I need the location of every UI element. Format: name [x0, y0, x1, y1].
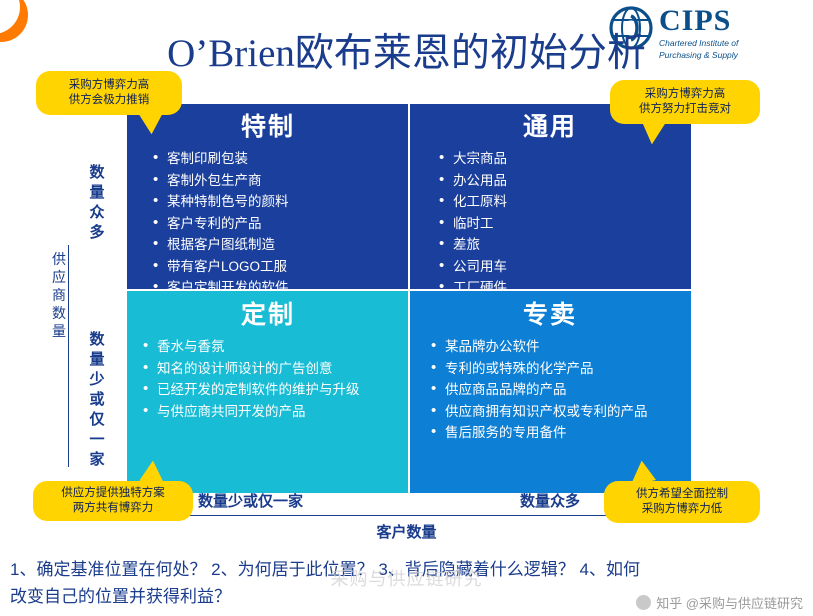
watermark-center: 采购与供应链研究 — [0, 565, 813, 591]
list-item: 根据客户图纸制造 — [151, 234, 409, 256]
list-item: 与供应商共同开发的产品 — [141, 401, 409, 423]
watermark-bottom-text: 知乎 @采购与供应链研究 — [656, 593, 803, 612]
list-item: 香水与香氛 — [141, 336, 409, 358]
quadrant-top-left-list: 客制印刷包装 客制外包生产商 某种特制色号的颜料 客户专利的产品 根据客户图纸制… — [151, 148, 409, 299]
quadrant-bottom-left-list: 香水与香氛 知名的设计师设计的广告创意 已经开发的定制软件的维护与升级 与供应商… — [141, 336, 409, 422]
callout-top-right: 采购方博弈力高 供方努力打击竞对 — [610, 80, 760, 124]
x-axis-left-label: 数量少或仅一家 — [198, 490, 303, 511]
list-item: 供应商拥有知识产权或专利的产品 — [429, 401, 691, 423]
callout-top-right-line1: 采购方博弈力高 — [639, 87, 731, 102]
callout-bottom-left-line2: 两方共有博弈力 — [61, 501, 165, 516]
list-item: 售后服务的专用备件 — [429, 422, 691, 444]
y-axis-line — [68, 245, 69, 467]
callout-top-right-line2: 供方努力打击竞对 — [639, 102, 731, 117]
callout-bottom-right-line1: 供方希望全面控制 — [636, 487, 728, 502]
list-item: 客制印刷包装 — [151, 148, 409, 170]
callout-top-left-line2: 供方会极力推销 — [69, 93, 150, 108]
callout-tail-icon — [626, 459, 656, 486]
kraljic-matrix: 特制 客制印刷包装 客制外包生产商 某种特制色号的颜料 客户专利的产品 根据客户… — [127, 104, 691, 493]
quadrant-top-left[interactable]: 特制 客制印刷包装 客制外包生产商 某种特制色号的颜料 客户专利的产品 根据客户… — [127, 104, 409, 290]
list-item: 知名的设计师设计的广告创意 — [141, 358, 409, 380]
callout-top-left: 采购方博弈力高 供方会极力推销 — [36, 71, 182, 115]
list-item: 供应商品品牌的产品 — [429, 379, 691, 401]
watermark-avatar-icon — [636, 595, 651, 610]
callout-tail-icon — [636, 118, 666, 146]
list-item: 专利的或特殊的化学产品 — [429, 358, 691, 380]
x-axis-right-label: 数量众多 — [520, 490, 580, 511]
list-item: 差旅 — [437, 234, 691, 256]
callout-tail-icon — [139, 110, 168, 135]
y-axis-high-label: 数量众多 — [86, 163, 108, 243]
quadrant-bottom-right-list: 某品牌办公软件 专利的或特殊的化学产品 供应商品品牌的产品 供应商拥有知识产权或… — [429, 336, 691, 444]
list-item: 大宗商品 — [437, 148, 691, 170]
callout-bottom-left: 供应方提供独特方案 两方共有博弈力 — [33, 481, 193, 521]
list-item: 办公用品 — [437, 170, 691, 192]
callout-tail-icon — [139, 459, 168, 485]
list-item: 化工原料 — [437, 191, 691, 213]
list-item: 某种特制色号的颜料 — [151, 191, 409, 213]
quadrant-top-right-list: 大宗商品 办公用品 化工原料 临时工 差旅 公司用车 工厂硬件 — [437, 148, 691, 299]
list-item: 客制外包生产商 — [151, 170, 409, 192]
list-item: 某品牌办公软件 — [429, 336, 691, 358]
y-axis-low-label: 数量少或仅一家 — [86, 330, 108, 470]
quadrant-bottom-right-heading: 专卖 — [409, 290, 691, 330]
callout-top-left-line1: 采购方博弈力高 — [69, 78, 150, 93]
callout-bottom-left-line1: 供应方提供独特方案 — [61, 486, 165, 501]
list-item: 客户专利的产品 — [151, 213, 409, 235]
matrix-vertical-divider — [408, 104, 410, 493]
quadrant-bottom-left-heading: 定制 — [127, 290, 409, 330]
list-item: 临时工 — [437, 213, 691, 235]
matrix-horizontal-divider — [127, 289, 691, 291]
callout-bottom-right-line2: 采购方博弈力低 — [636, 502, 728, 517]
list-item: 公司用车 — [437, 256, 691, 278]
list-item: 已经开发的定制软件的维护与升级 — [141, 379, 409, 401]
page-title: O’Brien欧布莱恩的初始分析 — [0, 22, 813, 78]
x-axis-title: 客户数量 — [0, 521, 813, 542]
callout-bottom-right: 供方希望全面控制 采购方博弈力低 — [604, 481, 760, 523]
x-axis-line — [134, 515, 672, 516]
quadrant-bottom-left[interactable]: 定制 香水与香氛 知名的设计师设计的广告创意 已经开发的定制软件的维护与升级 与… — [127, 290, 409, 493]
list-item: 带有客户LOGO工服 — [151, 256, 409, 278]
watermark-bottom: 知乎 @采购与供应链研究 — [636, 593, 803, 612]
